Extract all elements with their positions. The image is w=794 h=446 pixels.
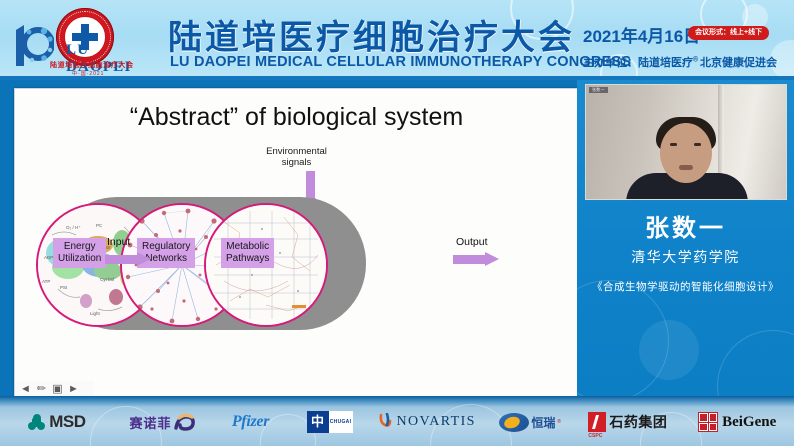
congress-title-en: LU DAOPEI MEDICAL CELLULAR IMMUNOTHERAPY… — [170, 54, 631, 70]
chugai-mark-icon: 中 — [307, 411, 329, 433]
sponsor-chugai: 中 CHUGAI — [290, 402, 370, 442]
speaker-name: 张数一 — [577, 208, 794, 243]
sponsor-cspc: CSPC 石药集团 — [576, 402, 681, 442]
lu-daopei-logo: LU DAOPEI 陆道培医疗细胞治疗大会 中·国·2021 — [8, 6, 158, 76]
speaker-panel: 张数一 张数一 清华大学药学院 《合成生物学驱动的智能化细胞设计》 — [577, 80, 794, 396]
sanofi-label: 赛诺菲 — [130, 413, 172, 432]
svg-text:Light: Light — [90, 311, 101, 316]
pill-line-1: Regulatory — [142, 241, 190, 252]
svg-text:ADP: ADP — [44, 255, 53, 260]
sponsor-hengrui: 恒瑞 ® — [485, 402, 576, 442]
svg-text:O₂ / H⁺: O₂ / H⁺ — [66, 225, 81, 230]
input-label: Input — [107, 236, 130, 248]
svg-text:PC: PC — [96, 223, 103, 228]
congress-organizer: 主办单位：陆道培医疗® — [583, 54, 698, 70]
label-metabolic-pathways: Metabolic Pathways — [221, 238, 274, 268]
congress-organizer-2: 北京健康促进会 — [700, 54, 777, 70]
beigene-seal-icon — [698, 412, 718, 432]
organizer-label: 主办单位：陆道培医疗 — [583, 57, 693, 69]
speaker-video-feed[interactable]: 张数一 — [585, 84, 787, 200]
beigene-label: BeiGene — [722, 414, 776, 431]
screen-icon[interactable]: ▣ — [52, 384, 63, 395]
output-arrow-icon — [453, 252, 499, 267]
chugai-label: CHUGAI — [329, 411, 353, 433]
novartis-flame-icon — [379, 413, 393, 431]
slide-title: “Abstract” of biological system — [15, 103, 578, 132]
pill-line-2: Utilization — [58, 253, 101, 264]
cspc-label: 石药集团 — [609, 412, 667, 432]
presentation-slide[interactable]: “Abstract” of biological system Environm… — [14, 88, 579, 398]
sponsor-pfizer: Pfizer — [211, 402, 289, 442]
pfizer-label: Pfizer — [232, 413, 269, 431]
output-label: Output — [456, 236, 488, 248]
congress-title-cn: 陆道培医疗细胞治疗大会 — [168, 10, 575, 59]
decorative-circle — [717, 330, 794, 396]
sponsor-logo-row: MSD 赛诺菲 Pfizer — [0, 402, 794, 442]
svg-text:Cyt b6f: Cyt b6f — [100, 277, 115, 282]
environmental-signals-label: Environmental signals — [15, 146, 578, 168]
label-energy-utilization: Energy Utilization — [53, 238, 106, 268]
msd-mark-icon — [28, 414, 45, 431]
video-name-tag: 张数一 — [589, 87, 608, 93]
broadcast-screen: LU DAOPEI 陆道培医疗细胞治疗大会 中·国·2021 陆道培医疗细胞治疗… — [0, 0, 794, 446]
next-arrow-icon[interactable]: ► — [68, 384, 79, 395]
sponsor-novartis: NOVARTIS — [369, 402, 484, 442]
pill-line-2: Pathways — [226, 253, 269, 264]
registered-mark: ® — [693, 56, 698, 63]
slide-toolbar[interactable]: ◄ ✏ ▣ ► — [15, 381, 94, 397]
svg-text:PSI: PSI — [60, 285, 67, 290]
congress-date: 2021年4月16日 — [583, 22, 700, 47]
input-arrow-icon — [105, 252, 151, 267]
svg-text:ATP: ATP — [42, 279, 50, 284]
speaker-affiliation: 清华大学药学院 — [577, 247, 794, 267]
sponsor-beigene: BeiGene — [680, 402, 794, 442]
cspc-mark-icon: CSPC — [588, 412, 606, 432]
previous-arrow-icon[interactable]: ◄ — [20, 384, 31, 395]
speaker-topic: 《合成生物学驱动的智能化细胞设计》 — [577, 279, 794, 294]
pill-line-1: Energy — [64, 241, 96, 252]
anniversary-10-icon — [10, 22, 54, 68]
sponsor-footer-bar: MSD 赛诺菲 Pfizer — [0, 396, 794, 446]
sanofi-swirl-icon — [174, 412, 196, 432]
novartis-label: NOVARTIS — [397, 414, 476, 430]
env-line-1: Environmental — [266, 146, 327, 157]
congress-format-badge: 会议形式：线上+线下 — [688, 26, 769, 40]
hengrui-label: 恒瑞 — [531, 414, 555, 431]
hengrui-registered-mark: ® — [557, 419, 561, 425]
sponsor-msd: MSD — [0, 402, 114, 442]
decorative-circle — [577, 280, 669, 396]
sponsor-sanofi: 赛诺菲 — [114, 402, 212, 442]
cspc-sub-label: CSPC — [588, 433, 602, 439]
logo-brand-cn: 陆道培医疗细胞治疗大会 — [50, 60, 134, 70]
pill-line-2: Networks — [145, 253, 187, 264]
chugai-glyph: 中 — [311, 416, 324, 429]
hengrui-mark-icon — [499, 413, 529, 432]
pill-line-1: Metabolic — [226, 241, 269, 252]
congress-header-banner: LU DAOPEI 陆道培医疗细胞治疗大会 中·国·2021 陆道培医疗细胞治疗… — [0, 0, 794, 80]
msd-label: MSD — [49, 412, 85, 432]
env-line-2: signals — [282, 157, 312, 168]
pen-icon[interactable]: ✏ — [36, 384, 47, 395]
